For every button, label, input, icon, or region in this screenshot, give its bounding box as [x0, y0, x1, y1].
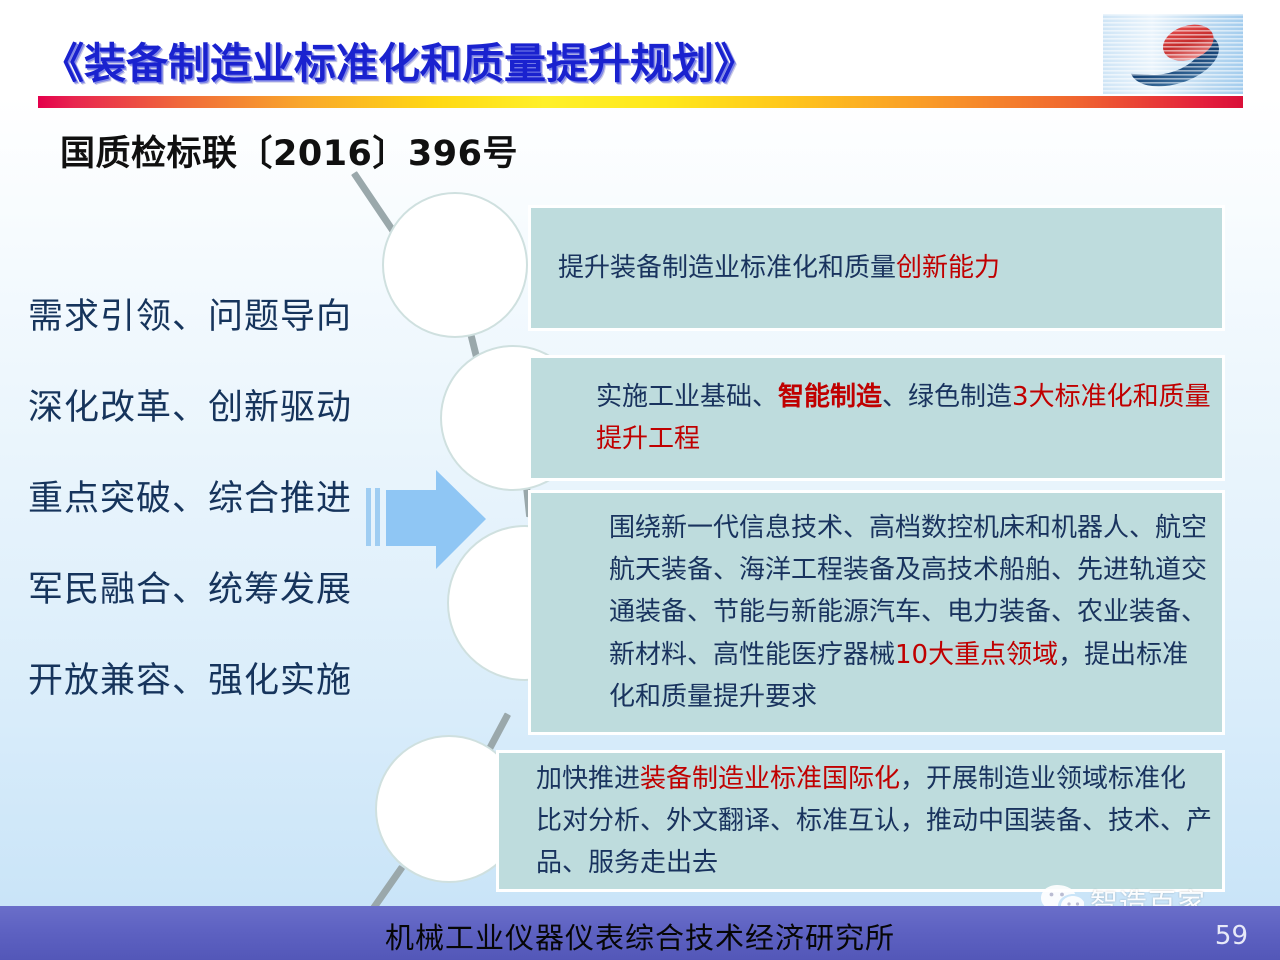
logo-mark-icon — [1103, 14, 1243, 94]
seg-highlight: 10大重点领域 — [895, 640, 1058, 670]
seg-normal: 实施工业基础、 — [596, 382, 778, 412]
seg-highlight-bold: 智能制造 — [778, 382, 882, 412]
content-box-3-text: 围绕新一代信息技术、高档数控机床和机器人、航空航天装备、海洋工程装备及高技术船舶… — [609, 507, 1222, 718]
principle-item: 需求引领、问题导向 — [28, 300, 408, 335]
principle-item: 开放兼容、强化实施 — [28, 664, 408, 699]
content-box-1: 提升装备制造业标准化和质量创新能力 — [528, 205, 1225, 331]
title-divider-rule — [38, 96, 1243, 108]
content-box-4: 加快推进装备制造业标准国际化，开展制造业领域标准化比对分析、外文翻译、标准互认，… — [496, 750, 1225, 892]
connector-stem-0 — [351, 171, 396, 233]
principle-item: 深化改革、创新驱动 — [28, 391, 408, 426]
institute-logo — [1103, 14, 1243, 94]
document-number: 国质检标联〔2016〕396号 — [60, 125, 518, 176]
page-title: 《装备制造业标准化和质量提升规划》 — [42, 30, 756, 91]
content-box-2-text: 实施工业基础、智能制造、绿色制造3大标准化和质量提升工程 — [596, 376, 1222, 460]
content-box-1-text: 提升装备制造业标准化和质量创新能力 — [558, 247, 1010, 289]
page-number: 59 — [1215, 921, 1248, 951]
seg-normal: 提升装备制造业标准化和质量 — [558, 253, 896, 283]
principle-item: 军民融合、统筹发展 — [28, 573, 408, 608]
seg-normal: 加快推进 — [536, 764, 640, 794]
content-box-4-text: 加快推进装备制造业标准国际化，开展制造业领域标准化比对分析、外文翻译、标准互认，… — [536, 758, 1222, 884]
seg-normal: 、绿色制造 — [882, 382, 1012, 412]
content-box-3: 围绕新一代信息技术、高档数控机床和机器人、航空航天装备、海洋工程装备及高技术船舶… — [528, 490, 1225, 735]
footer-organization: 机械工业仪器仪表综合技术经济研究所 — [0, 915, 1280, 957]
seg-highlight: 装备制造业标准国际化 — [640, 764, 900, 794]
principles-list: 需求引领、问题导向 深化改革、创新驱动 重点突破、综合推进 军民融合、统筹发展 … — [28, 300, 408, 699]
content-box-2: 实施工业基础、智能制造、绿色制造3大标准化和质量提升工程 — [528, 355, 1225, 481]
principle-item: 重点突破、综合推进 — [28, 482, 408, 517]
seg-highlight: 创新能力 — [896, 253, 1000, 283]
slide-canvas: 《装备制造业标准化和质量提升规划》 — [0, 0, 1280, 960]
